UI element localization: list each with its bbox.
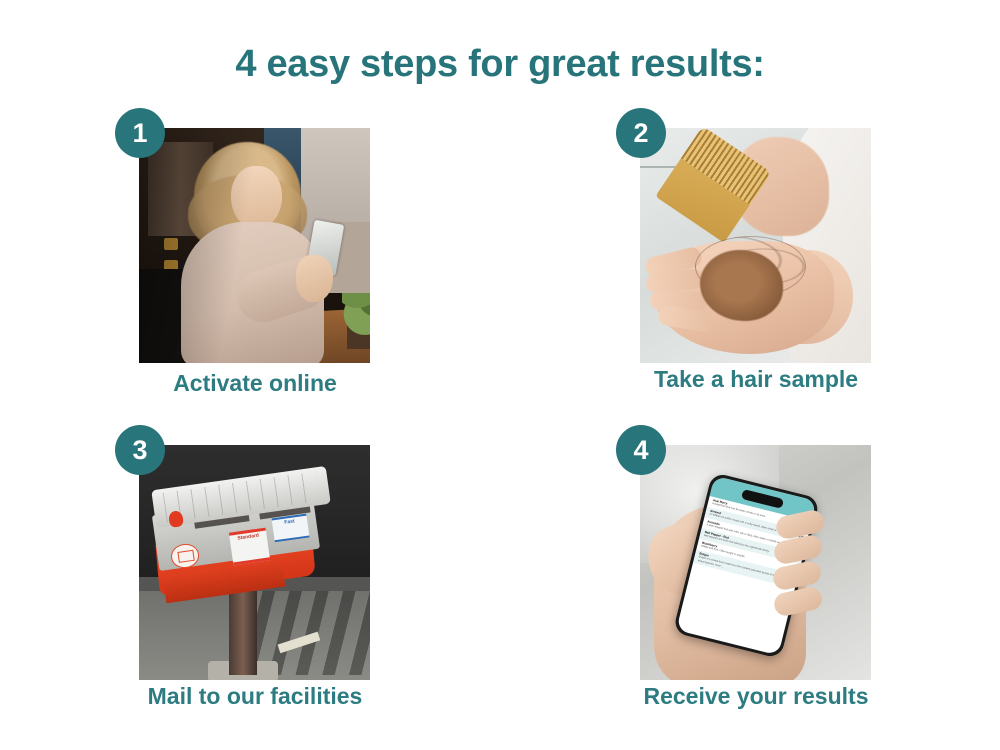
page-title: 4 easy steps for great results: [0, 44, 1000, 86]
results-phone-photo: Acai BerryA superfood that can be eaten … [640, 445, 871, 680]
step-image-1 [139, 128, 370, 363]
photo3-standard-label-text: Standard [230, 530, 268, 543]
photo4-fingertips [774, 511, 834, 624]
step-badge-1: 1 [115, 108, 165, 158]
photo3-fast-label: Fast [272, 513, 310, 541]
step-image-2 [640, 128, 871, 363]
step-caption-2: Take a hair sample [541, 366, 971, 393]
photo4-finger [775, 508, 827, 540]
steps-infographic: 4 easy steps for great results: 1 [0, 0, 1000, 750]
photo3-post [229, 591, 257, 676]
photo4-finger [771, 559, 823, 591]
hair-sample-photo [640, 128, 871, 363]
postbox-photo: Standard Fast [139, 445, 370, 680]
step-image-4: Acai BerryA superfood that can be eaten … [640, 445, 871, 680]
step-caption-1: Activate online [40, 370, 470, 397]
step-badge-2: 2 [616, 108, 666, 158]
step-caption-3: Mail to our facilities [40, 683, 470, 710]
photo1-vignette [139, 128, 370, 363]
step-badge-4: 4 [616, 425, 666, 475]
photo2-hair-clump [700, 250, 783, 321]
photo4-finger [772, 585, 824, 617]
cafe-phone-photo [139, 128, 370, 363]
step-caption-4: Receive your results [541, 683, 971, 710]
photo3-fast-label-text: Fast [272, 515, 307, 528]
photo4-finger [772, 533, 824, 565]
step-image-3: Standard Fast [139, 445, 370, 680]
step-badge-3: 3 [115, 425, 165, 475]
photo3-standard-label: Standard [229, 527, 270, 565]
